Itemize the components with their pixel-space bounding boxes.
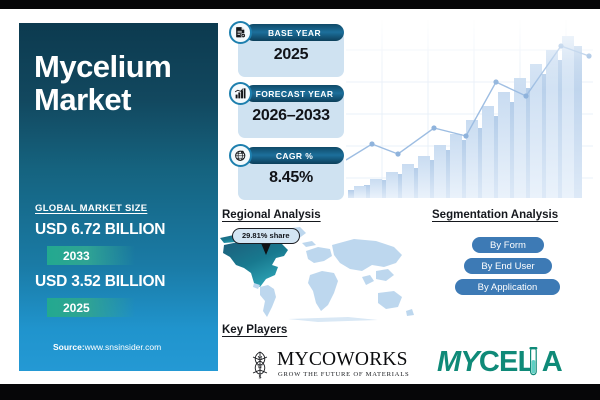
mycelia-wordmark-part1: MY: [437, 346, 479, 378]
infographic-card: Mycelium Market GLOBAL MARKET SIZE USD 6…: [0, 9, 600, 384]
mycoworks-monogram-icon: M W S: [247, 349, 273, 381]
forecast-year-chip: 2033: [47, 246, 135, 265]
segment-by-application[interactable]: By Application: [455, 279, 560, 295]
test-tube-icon: [529, 347, 538, 376]
logo-mycelia: MYCELIA: [437, 346, 577, 380]
svg-text:W: W: [257, 365, 263, 371]
segment-by-end-user[interactable]: By End User: [464, 258, 552, 274]
source-attribution: Source:www.snsinsider.com: [53, 342, 161, 352]
share-pointer: [261, 243, 271, 255]
mycelia-wordmark-part2: CEL: [479, 346, 535, 378]
mycelia-wordmark-part3: A: [542, 346, 562, 378]
title-line-1: Mycelium: [34, 50, 214, 83]
badge-forecast-year-value: 2026–2033: [238, 107, 344, 125]
source-url: www.snsinsider.com: [85, 342, 162, 352]
world-map: 29.81% share: [218, 223, 418, 323]
key-players-heading: Key Players: [222, 324, 287, 336]
source-label: Source:: [53, 342, 85, 352]
infographic-canvas: Mycelium Market GLOBAL MARKET SIZE USD 6…: [0, 0, 600, 400]
badge-cagr-value: 8.45%: [238, 169, 344, 187]
global-market-size-label: GLOBAL MARKET SIZE: [35, 203, 147, 214]
badge-cagr-label: CAGR %: [245, 147, 344, 164]
forecast-market-size-value: USD 6.72 BILLION: [35, 221, 165, 239]
mycoworks-wordmark: MYCOWORKS: [277, 349, 408, 371]
base-market-size-value: USD 3.52 BILLION: [35, 273, 165, 291]
logo-mycoworks: M W S MYCOWORKS GROW THE FUTURE OF MATER…: [247, 345, 422, 385]
regional-analysis-heading: Regional Analysis: [222, 209, 321, 221]
svg-text:S: S: [258, 375, 261, 381]
page-title: Mycelium Market: [34, 50, 214, 117]
bar-chart-icon: [229, 82, 252, 105]
badge-base-year-label: BASE YEAR: [245, 24, 344, 41]
mycoworks-tagline: GROW THE FUTURE OF MATERIALS: [278, 371, 409, 378]
title-line-2: Market: [34, 83, 214, 116]
globe-growth-icon: [229, 144, 252, 167]
badge-base-year-value: 2025: [238, 46, 344, 64]
segmentation-analysis-heading: Segmentation Analysis: [432, 209, 558, 221]
badge-forecast-year-label: FORECAST YEAR: [245, 85, 344, 102]
market-growth-chart: [346, 20, 593, 198]
base-year-chip: 2025: [47, 298, 135, 317]
regional-share-tooltip: 29.81% share: [232, 228, 300, 244]
segment-by-form[interactable]: By Form: [472, 237, 544, 253]
svg-text:M: M: [258, 356, 263, 362]
report-document-icon: [229, 21, 252, 44]
left-summary-panel: Mycelium Market GLOBAL MARKET SIZE USD 6…: [17, 21, 220, 373]
